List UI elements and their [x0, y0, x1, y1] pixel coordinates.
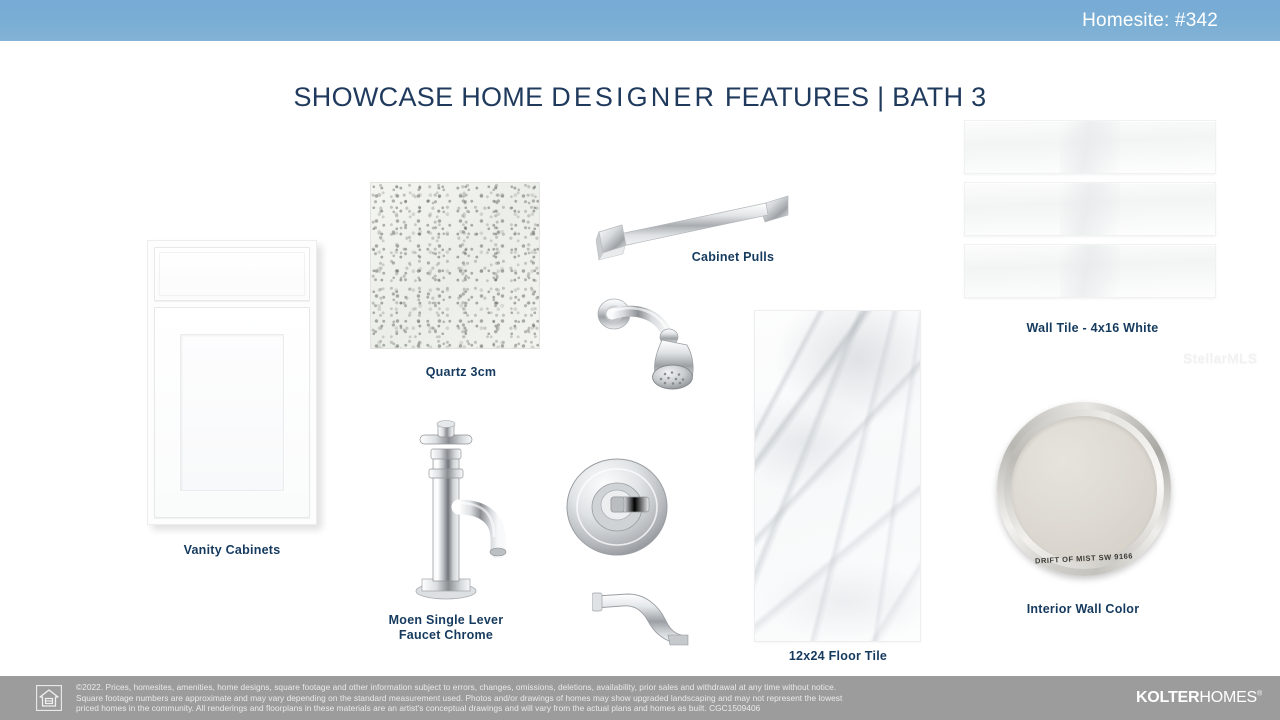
logo-kolter: KOLTER	[1136, 689, 1199, 706]
slide-root: Homesite: #342 SHOWCASE HOME DESIGNER FE…	[0, 0, 1280, 720]
label-vanity-cabinets: Vanity Cabinets	[142, 543, 322, 558]
label-cabinet-pulls: Cabinet Pulls	[643, 250, 823, 265]
shower-head-image	[595, 295, 730, 400]
homesite-label: Homesite: #342	[1082, 10, 1280, 32]
label-quartz: Quartz 3cm	[371, 365, 551, 380]
tub-spout-image	[592, 588, 702, 650]
faucet-image	[400, 415, 520, 605]
kolter-homes-logo: KOLTERHOMES®	[1136, 689, 1262, 707]
subway-tile	[964, 244, 1216, 298]
logo-registered-mark: ®	[1257, 691, 1262, 698]
tub-spout-icon	[592, 588, 702, 650]
logo-homes: HOMES	[1199, 689, 1257, 706]
header-bar: Homesite: #342	[0, 0, 1280, 41]
faucet-icon	[400, 415, 520, 605]
label-floor-tile: 12x24 Floor Tile	[748, 649, 928, 664]
shower-valve-trim-image	[565, 455, 675, 560]
floor-tile-image	[755, 311, 920, 641]
disclaimer-line-1: ©2022. Prices, homesites, amenities, hom…	[76, 682, 1136, 692]
cabinet-drawer	[154, 247, 310, 301]
label-faucet: Moen Single Lever Faucet Chrome	[356, 613, 536, 643]
footer-bar: ©2022. Prices, homesites, amenities, hom…	[0, 676, 1280, 720]
label-wall-tile: Wall Tile - 4x16 White	[970, 321, 1215, 336]
cabinet-door	[154, 307, 310, 518]
vanity-cabinet-image	[147, 240, 317, 525]
quartz-swatch-image	[371, 183, 539, 348]
subway-tile	[964, 120, 1216, 174]
stellar-mls-watermark: StellarMLS	[1183, 350, 1257, 366]
shower-valve-icon	[565, 455, 675, 560]
cabinet-door-panel	[180, 334, 284, 491]
page-title: SHOWCASE HOME DESIGNER FEATURES | BATH 3	[0, 82, 1280, 113]
disclaimer-line-3: priced homes in the community. All rende…	[76, 703, 1136, 713]
paint-can-image: DRIFT OF MIST SW 9166	[997, 402, 1171, 576]
label-interior-wall-color: Interior Wall Color	[993, 602, 1173, 617]
page-title-part2: DESIGNER	[551, 82, 717, 112]
page-title-part1: SHOWCASE HOME	[293, 82, 551, 112]
shower-head-icon	[595, 295, 730, 400]
footer-disclaimer: ©2022. Prices, homesites, amenities, hom…	[76, 682, 1136, 713]
page-title-part3: FEATURES | BATH 3	[717, 82, 986, 112]
subway-tile	[964, 182, 1216, 236]
wall-tile-image	[964, 120, 1216, 302]
equal-housing-opportunity-icon	[36, 685, 62, 711]
disclaimer-line-2: Square footage numbers are approximate a…	[76, 693, 1136, 703]
paint-color-swatch	[1011, 416, 1157, 562]
